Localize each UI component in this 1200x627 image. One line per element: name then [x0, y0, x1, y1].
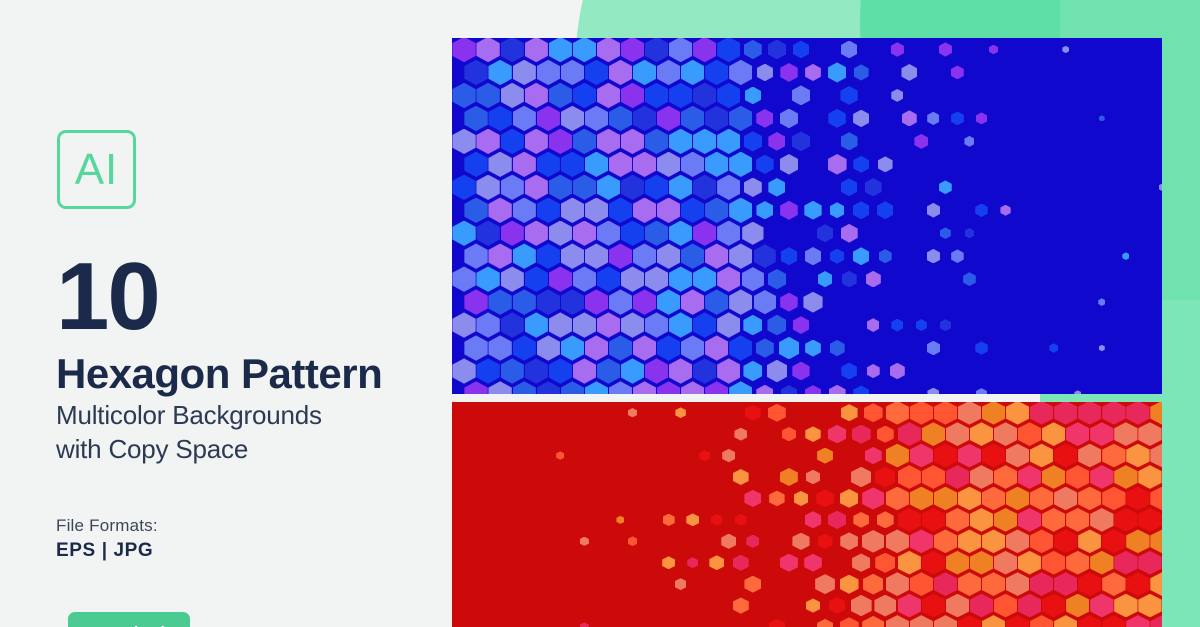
hexagon-cell: [645, 83, 668, 108]
hexagon-cell: [976, 388, 987, 394]
hexagon-cell: [657, 106, 680, 131]
hexagon-cell: [840, 617, 859, 627]
hexagon-cell: [452, 358, 475, 383]
file-formats-value: EPS | JPG: [56, 540, 153, 562]
hexagon-cell: [828, 425, 846, 444]
hexagon-cell: [573, 358, 596, 383]
file-formats-label: File Formats:: [56, 516, 158, 536]
hexagon-cell: [815, 574, 835, 594]
page-title: Hexagon Pattern: [56, 352, 382, 396]
hexagon-cell: [756, 155, 774, 174]
hexagon-cell: [958, 402, 981, 425]
hexagon-cell: [792, 85, 810, 105]
hexagon-cell: [1078, 615, 1101, 627]
hexagon-cell: [866, 271, 881, 288]
hexagon-cell: [501, 266, 524, 291]
hexagon-cell: [1114, 551, 1137, 575]
hexagon-cell: [769, 619, 785, 627]
hexagon-cell: [733, 469, 749, 485]
hexagon-cell: [865, 447, 882, 464]
hexagon-cell: [922, 465, 945, 489]
hexagon-cell: [488, 243, 511, 268]
hexagon-cell: [982, 402, 1005, 425]
hexagon-cell: [464, 106, 487, 131]
hexagon-cell: [853, 512, 869, 528]
hexagon-cell: [513, 152, 536, 177]
hexagon-cell: [1042, 594, 1065, 618]
hexagon-cell: [681, 243, 704, 268]
hexagon-cell: [549, 129, 572, 154]
hexagon-cell: [841, 41, 857, 59]
hexagon-cell: [645, 175, 668, 200]
hexagon-cell: [922, 594, 945, 618]
hexagon-cell: [1042, 508, 1065, 532]
hexagon-cell: [633, 335, 656, 360]
hexagon-cell: [476, 266, 499, 291]
hexagon-cell: [717, 358, 740, 383]
hexagon-cell: [609, 289, 632, 314]
hexagon-cell: [922, 508, 945, 532]
hexagon-cell: [975, 204, 987, 218]
hexagon-cell: [1102, 444, 1125, 468]
hexagon-cell: [767, 315, 786, 336]
hexagon-cell: [934, 615, 957, 627]
hexagon-cell: [597, 266, 620, 291]
hexagon-cell: [585, 243, 608, 268]
hexagon-cell: [693, 38, 716, 62]
hexagon-cell: [1126, 615, 1149, 627]
hexagon-cell: [1150, 529, 1162, 553]
hexagon-cell: [994, 551, 1017, 575]
hexagon-cell: [958, 615, 981, 627]
hexagon-cell: [768, 269, 787, 289]
hexagon-cell: [779, 337, 800, 360]
hexagon-cell: [805, 64, 821, 81]
hexagon-cell: [464, 243, 487, 268]
hexagon-cell: [729, 152, 752, 177]
hexagon-cell: [829, 385, 846, 394]
hexagon-cell: [705, 243, 728, 268]
hexagon-cell: [585, 289, 608, 314]
hexagon-cell: [890, 363, 905, 379]
hexagon-cell: [1030, 444, 1053, 468]
hexagon-cell: [645, 129, 668, 154]
hexagon-cell: [1099, 115, 1105, 121]
hexagon-cell: [862, 616, 884, 627]
hexagon-cell: [744, 490, 761, 507]
hexagon-cell: [621, 266, 644, 291]
hexagon-cell: [982, 487, 1005, 511]
hexagon-cell: [934, 487, 957, 511]
hexagon-cell: [877, 426, 894, 443]
hexagon-cell: [501, 221, 524, 246]
hexagon-cell: [488, 289, 511, 314]
hexagon-cell: [886, 487, 909, 511]
hexagon-cell: [970, 508, 993, 532]
hexagon-cell: [754, 290, 776, 314]
hexagon-cell: [780, 154, 799, 175]
hexagon-cell: [780, 468, 798, 486]
hexagon-cell: [537, 106, 560, 131]
hexagon-cell: [585, 60, 608, 85]
hexagon-cell: [817, 224, 834, 242]
hexagon-cell: [805, 340, 821, 357]
hexagon-cell: [476, 312, 499, 337]
hexagon-cell: [780, 201, 798, 220]
hexagon-cell: [898, 594, 921, 618]
hexagon-cell: [1006, 572, 1029, 596]
hexagon-cell: [585, 106, 608, 131]
download-button[interactable]: Download: [68, 612, 190, 627]
hexagon-cell: [1030, 572, 1053, 596]
hexagon-cell: [940, 227, 951, 239]
hexagon-cell: [645, 312, 668, 337]
hexagon-cell: [675, 407, 686, 418]
hexagon-cell: [1049, 343, 1058, 353]
hexagon-cell: [452, 129, 475, 154]
hexagon-cell: [609, 381, 632, 394]
hexagon-cell: [669, 83, 692, 108]
hexagon-cell: [886, 529, 909, 553]
hexagon-cell: [476, 358, 499, 383]
hexagon-cell: [816, 489, 834, 507]
hexagon-cell: [898, 465, 921, 489]
hexagon-cell: [842, 271, 857, 288]
hexagon-cell: [621, 312, 644, 337]
hexagon-cell: [585, 198, 608, 223]
hexagon-cell: [1102, 529, 1125, 553]
hexagon-cell: [874, 595, 896, 617]
hexagon-cell: [939, 180, 952, 194]
hexagon-cell: [958, 529, 981, 553]
hexagon-cell: [1066, 465, 1089, 489]
hexagon-cell: [1150, 615, 1162, 627]
hexagon-cell: [1042, 551, 1065, 575]
hexagon-cell: [1030, 402, 1053, 425]
hexagon-cell: [452, 266, 475, 291]
hexagon-cell: [939, 42, 952, 56]
hexagon-cell: [910, 615, 933, 627]
hexagon-cell: [898, 551, 921, 575]
hexagon-cell: [633, 60, 656, 85]
hexagon-cell: [513, 289, 536, 314]
hexagon-cell: [556, 451, 564, 459]
hexagon-cell: [1054, 487, 1077, 511]
hexagon-cell: [756, 201, 773, 219]
hexagon-cell: [549, 266, 572, 291]
hexagon-cell: [561, 152, 584, 177]
hexagon-cell: [1114, 594, 1137, 618]
hexagon-cell: [501, 358, 524, 383]
hexagon-cell: [681, 106, 704, 131]
hexagon-cell: [1159, 184, 1162, 191]
hexagon-cell: [853, 201, 869, 219]
hexagon-cell: [830, 249, 844, 264]
hexagon-cell: [609, 243, 632, 268]
hexagon-cell: [994, 594, 1017, 618]
hexagon-cell: [609, 335, 632, 360]
hexagon-cell: [768, 404, 786, 422]
hexagon-cell: [1066, 422, 1089, 446]
hexagon-cell: [597, 221, 620, 246]
hexagon-cell: [1126, 529, 1149, 553]
hexagon-cell: [669, 38, 692, 62]
hexagon-cell: [476, 38, 499, 62]
hexagon-cell: [898, 422, 921, 446]
hexagon-cell: [1102, 572, 1125, 596]
hexagon-cell: [693, 221, 716, 246]
hexagon-cell: [645, 358, 668, 383]
hexagon-cell: [745, 87, 761, 105]
hexagon-cell: [1030, 615, 1053, 627]
hexagon-cell: [851, 467, 871, 487]
hexagon-cell: [561, 243, 584, 268]
hexagon-cell: [934, 572, 957, 596]
hexagon-cell: [768, 40, 786, 60]
hexagon-cell: [476, 129, 499, 154]
hexagon-cell: [693, 266, 716, 291]
hexagon-cell: [561, 289, 584, 314]
hexagon-cell: [537, 243, 560, 268]
hexagon-cell: [1126, 572, 1149, 596]
hexagon-cell: [910, 572, 933, 596]
hexagon-cell: [717, 38, 740, 62]
hexagon-cell: [609, 60, 632, 85]
hexagon-cell: [717, 129, 740, 154]
hexagon-cell: [934, 444, 957, 468]
hexagon-cell: [621, 83, 644, 108]
hexagon-cell: [946, 422, 969, 446]
poster-canvas: AI 10 Hexagon Pattern Multicolor Backgro…: [0, 0, 1200, 627]
hexagon-cell: [597, 175, 620, 200]
hexagon-cell: [549, 38, 572, 62]
hexagon-cell: [705, 289, 728, 314]
hexagon-cell: [780, 554, 798, 572]
hexagon-cell: [946, 508, 969, 532]
hexagon-cell: [609, 106, 632, 131]
hexagon-cell: [756, 338, 774, 357]
hexagon-cell: [464, 152, 487, 177]
hexagon-cell: [744, 40, 762, 59]
hexagon-cell: [841, 224, 858, 243]
hexagon-cell: [940, 319, 951, 331]
hexagon-cell: [729, 198, 752, 223]
hexagon-cell: [501, 83, 524, 108]
hexagon-cell: [573, 266, 596, 291]
hexagon-cell: [669, 129, 692, 154]
hexagon-cell: [476, 221, 499, 246]
hexagon-cell: [1018, 551, 1041, 575]
hexagon-cell: [1018, 422, 1041, 446]
hexagon-cell: [561, 106, 584, 131]
hexagon-cell: [501, 312, 524, 337]
hexagon-cell: [488, 60, 511, 85]
hexagon-cell: [597, 358, 620, 383]
hexagon-cell: [621, 221, 644, 246]
hexagon-cell: [1054, 402, 1077, 425]
hexagon-cell: [1122, 252, 1129, 260]
hexagon-cell: [927, 203, 940, 218]
preview-blue-hexagon-pattern[interactable]: [452, 38, 1162, 394]
hexagon-cell: [549, 312, 572, 337]
hexagon-cell: [573, 312, 596, 337]
hexagon-cell: [958, 572, 981, 596]
hexagon-cell: [982, 444, 1005, 468]
hexagon-cell: [537, 381, 560, 394]
hexagon-cell: [840, 489, 858, 508]
hexagon-cell: [975, 341, 987, 354]
hexagon-cell: [729, 381, 752, 394]
hexagon-cell: [525, 83, 548, 108]
hexagon-cell: [597, 312, 620, 337]
hexagon-cell: [902, 110, 917, 126]
hexagon-cell: [525, 221, 548, 246]
hexagon-cell: [657, 152, 680, 177]
hexagon-cell: [513, 335, 536, 360]
hexagon-cell: [865, 178, 882, 196]
preview-red-hexagon-pattern[interactable]: [452, 402, 1162, 627]
hexagon-cell: [982, 572, 1005, 596]
hexagon-cell: [963, 272, 976, 286]
hexagon-cell: [525, 312, 548, 337]
hexagon-cell: [633, 289, 656, 314]
hexagon-cell: [580, 622, 589, 627]
hexagon-cell: [756, 109, 773, 128]
hexagon-cell: [742, 222, 763, 245]
hexagon-cell: [681, 289, 704, 314]
hexagon-cell: [970, 465, 993, 489]
hexagon-cell: [818, 271, 833, 287]
hexagon-cell: [734, 428, 747, 441]
hexagon-cell: [488, 152, 511, 177]
hexagon-cell: [1018, 594, 1041, 618]
hexagon-cell: [891, 89, 903, 102]
hexagon-cell: [768, 178, 785, 197]
hexagon-cell: [645, 221, 668, 246]
hexagon-cell: [817, 448, 833, 464]
hexagon-cell: [717, 266, 740, 291]
hexagon-cell: [693, 312, 716, 337]
hexagon-cell: [781, 247, 798, 265]
hexagon-cell: [693, 175, 716, 200]
hexagon-cell: [1006, 444, 1029, 468]
hexagon-cell: [767, 360, 788, 383]
hexagon-cell: [657, 381, 680, 394]
hexagon-cell: [735, 514, 747, 526]
hexagon-cell: [1054, 572, 1077, 596]
hexagon-cell: [537, 152, 560, 177]
hexagon-cell: [951, 249, 964, 263]
hexagon-cell: [663, 514, 675, 526]
hexagon-cell: [585, 152, 608, 177]
hexagon-cell: [805, 426, 820, 442]
hexagon-cell: [817, 619, 833, 627]
hexagon-cell: [693, 129, 716, 154]
hexagon-cell: [1042, 465, 1065, 489]
hexagon-cell: [780, 293, 797, 312]
hexagon-cell: [681, 60, 704, 85]
hexagon-cell: [1054, 615, 1077, 627]
hexagon-cell: [645, 38, 668, 62]
hexagon-cell: [1138, 594, 1161, 618]
hexagon-cell: [1066, 594, 1089, 618]
hexagon-cell: [806, 470, 820, 484]
hexagon-cell: [1150, 487, 1162, 511]
hexagon-cell: [910, 402, 933, 425]
hexagon-cell: [662, 556, 675, 569]
hexagon-cell: [1114, 508, 1137, 532]
hexagon-cell: [476, 175, 499, 200]
hexagon-cell: [585, 381, 608, 394]
hexagon-cell: [891, 42, 904, 57]
hexagon-cell: [792, 362, 809, 381]
hexagon-cell: [886, 444, 909, 468]
hexagon-cell: [621, 38, 644, 62]
hexagon-cell: [705, 106, 728, 131]
hexagon-cell: [970, 422, 993, 446]
hexagon-cell: [729, 289, 752, 314]
hexagon-cell: [501, 129, 524, 154]
hexagon-cell: [1090, 594, 1113, 618]
hexagon-cell: [958, 444, 981, 468]
hexagon-cell: [840, 86, 857, 105]
hexagon-cell: [946, 551, 969, 575]
hexagon-cell: [927, 249, 940, 264]
hexagon-cell: [513, 106, 536, 131]
hexagon-cell: [464, 60, 487, 85]
hexagon-cell: [891, 319, 903, 332]
hexagon-cell: [681, 381, 704, 394]
hexagon-cell: [597, 83, 620, 108]
hexagon-cell: [628, 536, 638, 546]
hexagon-cell: [886, 615, 909, 627]
hexagon-cell: [488, 381, 511, 394]
hexagon-cell: [709, 555, 724, 570]
hexagon-cell: [525, 266, 548, 291]
hexagon-cell: [616, 516, 624, 524]
ai-badge-label: AI: [75, 148, 119, 192]
hexagon-cell: [729, 106, 752, 131]
hexagon-cell: [1090, 551, 1113, 575]
hexagon-cell: [841, 404, 858, 421]
hexagon-cell: [828, 109, 845, 128]
hexagon-cell: [982, 529, 1005, 553]
hexagon-cell: [717, 83, 740, 108]
hexagon-cell: [657, 60, 680, 85]
hexagon-cell: [853, 385, 869, 394]
hexagon-cell: [561, 198, 584, 223]
hexagon-cell: [780, 109, 798, 129]
hexagon-cell: [829, 597, 845, 614]
hexagon-cell: [513, 381, 536, 394]
hexagon-cell: [875, 553, 895, 573]
hexagon-cell: [733, 597, 749, 613]
hexagon-cell: [711, 514, 723, 526]
hexagon-cell: [1099, 345, 1105, 351]
hexagon-cell: [549, 175, 572, 200]
hexagon-cell: [645, 266, 668, 291]
hexagon-cell: [657, 335, 680, 360]
hexagon-cell: [669, 312, 692, 337]
hexagon-cell: [549, 358, 572, 383]
hexagon-cell: [828, 511, 846, 529]
hexagon-cell: [793, 41, 809, 59]
hexagon-cell: [681, 335, 704, 360]
hexagon-cell: [875, 467, 896, 488]
hexagon-cell: [669, 266, 692, 291]
hexagon-cell: [964, 136, 974, 147]
hexagon-cell: [729, 60, 752, 85]
